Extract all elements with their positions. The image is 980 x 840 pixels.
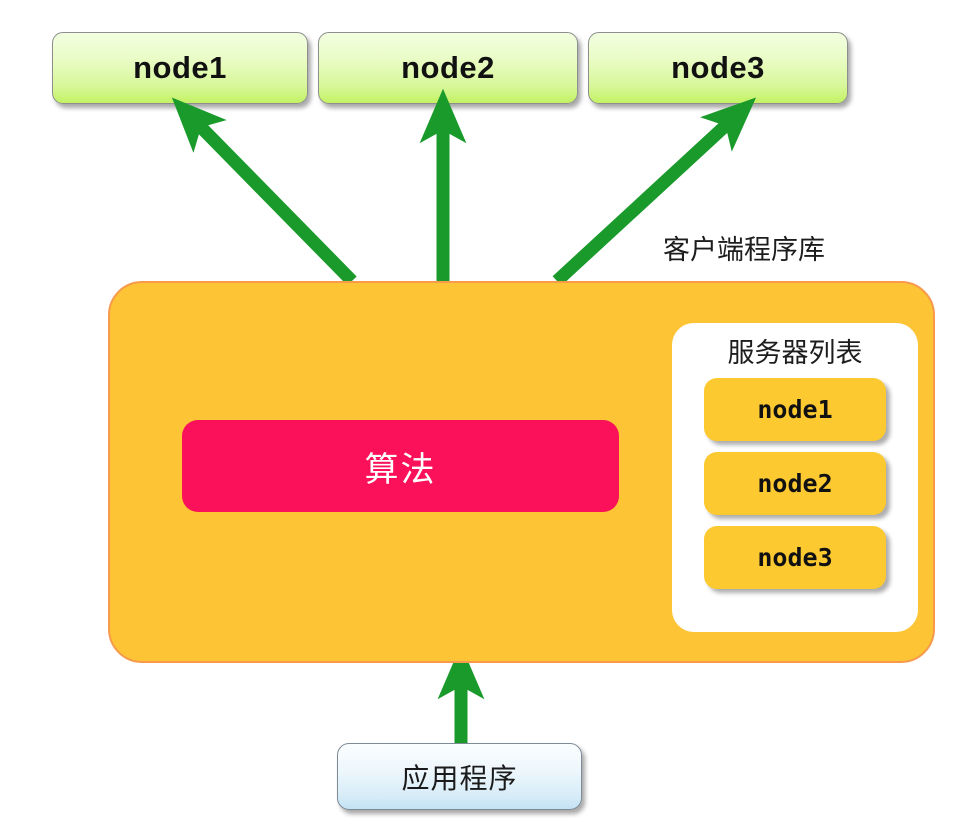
diagram-canvas: node1 node2 node3 客户端程序库 算法 服务器列表 node1	[0, 0, 980, 840]
server-list-item-node1[interactable]: node1	[704, 378, 886, 441]
node-box-label: node1	[133, 50, 227, 86]
arrow-to-node1	[191, 117, 352, 281]
server-list-item-node3[interactable]: node3	[704, 526, 886, 589]
server-list-item-label: node1	[757, 395, 832, 424]
node-box-node2[interactable]: node2	[318, 32, 578, 104]
node-box-label: node3	[671, 50, 765, 86]
client-library-container: 算法 服务器列表 node1 node2 node3	[108, 281, 935, 663]
server-list-item-node2[interactable]: node2	[704, 452, 886, 515]
server-list-panel: 服务器列表 node1 node2 node3	[672, 323, 918, 632]
client-library-label: 客户端程序库	[663, 228, 825, 267]
algorithm-label: 算法	[365, 442, 437, 491]
server-list-item-label: node2	[757, 469, 832, 498]
application-label: 应用程序	[401, 757, 517, 797]
server-list-item-label: node3	[757, 543, 832, 572]
algorithm-box[interactable]: 算法	[182, 420, 619, 512]
node-box-node1[interactable]: node1	[52, 32, 308, 104]
node-box-node3[interactable]: node3	[588, 32, 848, 104]
server-list-title: 服务器列表	[728, 331, 863, 370]
node-box-label: node2	[401, 50, 495, 86]
application-box[interactable]: 应用程序	[337, 743, 582, 810]
